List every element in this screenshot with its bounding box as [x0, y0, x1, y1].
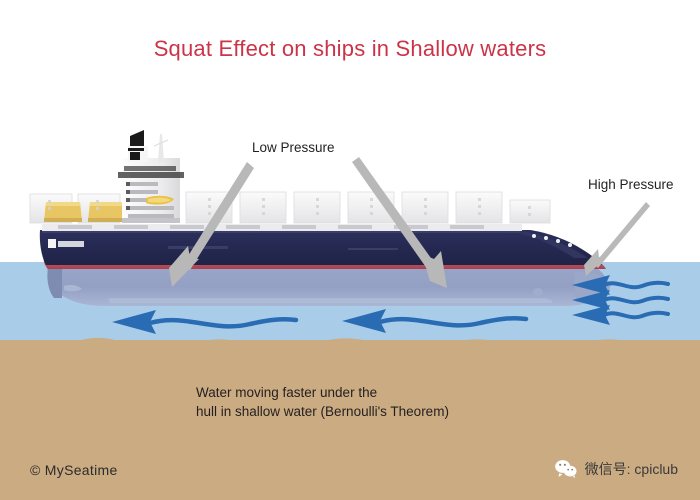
squat-effect-infographic: Squat Effect on ships in Shallow waters: [0, 0, 700, 500]
low-pressure-label: Low Pressure: [252, 140, 335, 155]
caption-line-2: hull in shallow water (Bernoulli's Theor…: [196, 402, 449, 421]
high-pressure-label: High Pressure: [588, 177, 674, 192]
caption-line-1: Water moving faster under the: [196, 383, 449, 402]
wechat-logo-icon: [554, 459, 578, 479]
hull-above-waterline: [40, 230, 602, 265]
page-title: Squat Effect on ships in Shallow waters: [0, 36, 700, 62]
hull-below-waterline: [46, 264, 610, 306]
seabed-edge-wave: [0, 333, 700, 355]
wechat-attribution: 微信号: cpiclub: [554, 459, 678, 479]
ship-superstructure: [118, 130, 184, 223]
copyright-credit: © MySeatime: [30, 462, 118, 478]
wechat-id-label: 微信号: cpiclub: [585, 459, 678, 479]
bernoulli-caption: Water moving faster under the hull in sh…: [196, 383, 449, 421]
container-stacks: [30, 192, 550, 223]
